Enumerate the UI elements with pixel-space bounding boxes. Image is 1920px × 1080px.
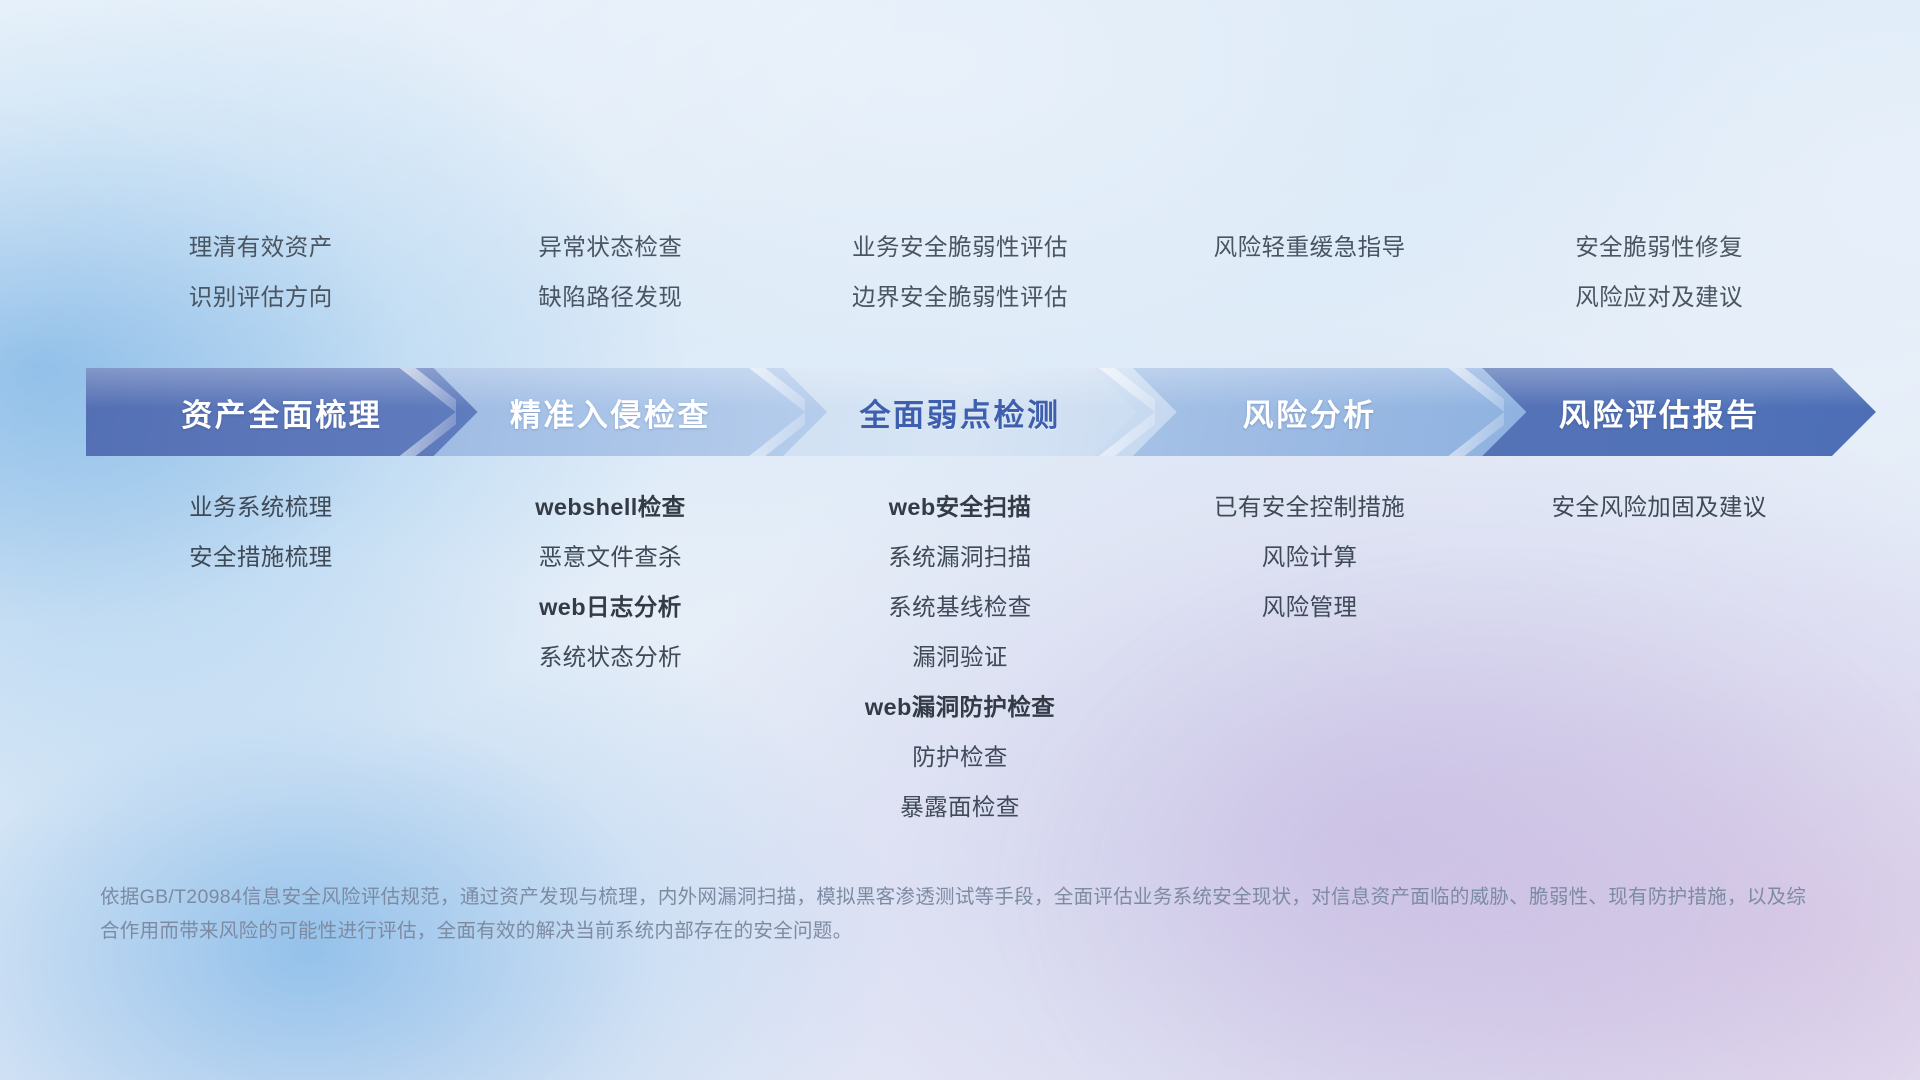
top-note: 风险应对及建议 xyxy=(1484,280,1834,314)
process-arrow-band: 资产全面梳理精准入侵检查全面弱点检测风险分析风险评估报告 xyxy=(86,368,1834,456)
top-note: 异常状态检查 xyxy=(436,230,786,264)
step-detail-item: web漏洞防护检查 xyxy=(785,690,1135,724)
step-detail-item: 已有安全控制措施 xyxy=(1135,490,1485,524)
top-note: 业务安全脆弱性评估 xyxy=(785,230,1135,264)
step-detail-column: 已有安全控制措施风险计算风险管理 xyxy=(1135,490,1485,840)
step-detail-item: web日志分析 xyxy=(436,590,786,624)
top-note: 理清有效资产 xyxy=(86,230,436,264)
step-detail-column: web安全扫描系统漏洞扫描系统基线检查漏洞验证web漏洞防护检查防护检查暴露面检… xyxy=(785,490,1135,840)
top-note: 安全脆弱性修复 xyxy=(1484,230,1834,264)
step-detail-lists: 业务系统梳理安全措施梳理webshell检查恶意文件查杀web日志分析系统状态分… xyxy=(86,490,1834,840)
process-step-label: 精准入侵检查 xyxy=(510,390,711,435)
step-detail-item: 暴露面检查 xyxy=(785,790,1135,824)
top-note: 识别评估方向 xyxy=(86,280,436,314)
step-detail-item: 系统漏洞扫描 xyxy=(785,540,1135,574)
top-notes-column: 异常状态检查缺陷路径发现 xyxy=(436,230,786,314)
step-detail-item: 系统基线检查 xyxy=(785,590,1135,624)
step-detail-column: 安全风险加固及建议 xyxy=(1484,490,1834,840)
step-detail-item: 漏洞验证 xyxy=(785,640,1135,674)
top-notes-column: 安全脆弱性修复风险应对及建议 xyxy=(1484,230,1834,314)
footer-description: 依据GB/T20984信息安全风险评估规范，通过资产发现与梳理，内外网漏洞扫描，… xyxy=(100,880,1820,948)
top-note: 边界安全脆弱性评估 xyxy=(785,280,1135,314)
top-note: 缺陷路径发现 xyxy=(436,280,786,314)
step-detail-column: webshell检查恶意文件查杀web日志分析系统状态分析 xyxy=(436,490,786,840)
step-detail-item: 恶意文件查杀 xyxy=(436,540,786,574)
step-detail-item: webshell检查 xyxy=(436,490,786,524)
step-detail-item: 安全措施梳理 xyxy=(86,540,436,574)
step-detail-item: web安全扫描 xyxy=(785,490,1135,524)
top-note: 风险轻重缓急指导 xyxy=(1135,230,1485,264)
top-notes-column: 理清有效资产识别评估方向 xyxy=(86,230,436,314)
footer-paragraph: 依据GB/T20984信息安全风险评估规范，通过资产发现与梳理，内外网漏洞扫描，… xyxy=(100,880,1820,948)
top-notes-column: 业务安全脆弱性评估边界安全脆弱性评估 xyxy=(785,230,1135,314)
diagram-content: 理清有效资产识别评估方向异常状态检查缺陷路径发现业务安全脆弱性评估边界安全脆弱性… xyxy=(0,0,1920,1080)
process-step-label: 风险分析 xyxy=(1243,390,1377,435)
step-detail-item: 系统状态分析 xyxy=(436,640,786,674)
step-detail-item: 业务系统梳理 xyxy=(86,490,436,524)
step-detail-item: 风险计算 xyxy=(1135,540,1485,574)
step-detail-item: 安全风险加固及建议 xyxy=(1484,490,1834,524)
step-detail-item: 风险管理 xyxy=(1135,590,1485,624)
step-detail-item: 防护检查 xyxy=(785,740,1135,774)
process-step-label: 资产全面梳理 xyxy=(181,390,382,435)
top-notes-row: 理清有效资产识别评估方向异常状态检查缺陷路径发现业务安全脆弱性评估边界安全脆弱性… xyxy=(86,230,1834,314)
top-notes-column: 风险轻重缓急指导 xyxy=(1135,230,1485,314)
process-step-label: 全面弱点检测 xyxy=(859,390,1060,435)
step-detail-column: 业务系统梳理安全措施梳理 xyxy=(86,490,436,840)
process-step-label: 风险评估报告 xyxy=(1559,390,1760,435)
